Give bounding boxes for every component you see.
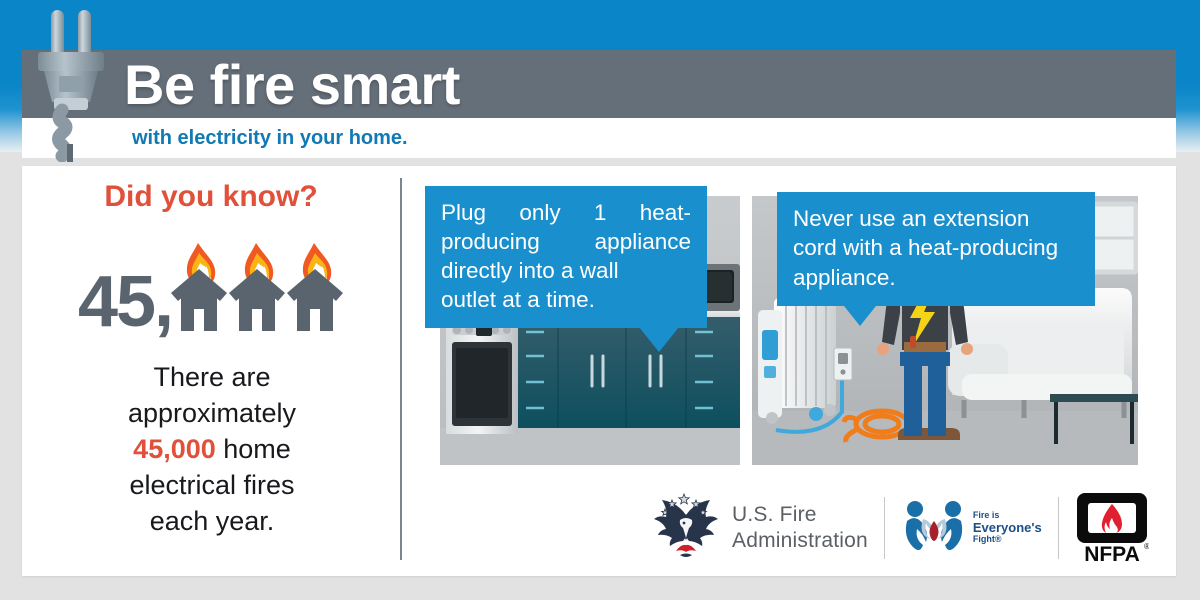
page-title: Be fire smart <box>124 50 460 120</box>
stat-line-4: electrical fires <box>129 470 294 500</box>
usfa-logo: U.S. Fire Administration <box>650 490 868 566</box>
tip-bubble-extension-cord-text: Never use an extension cord with a heat-… <box>793 204 1079 292</box>
burning-houses-group <box>170 239 344 335</box>
logo-separator <box>1058 497 1059 559</box>
page-subtitle: with electricity in your home. <box>132 121 408 155</box>
tip-bubble-extension-cord: Never use an extension cord with a heat-… <box>777 192 1095 306</box>
statistic-number-prefix: 45, <box>78 269 172 335</box>
feft-wordmark: Fire is Everyone's Fight® <box>973 511 1042 544</box>
stat-line-1: There are <box>153 362 270 392</box>
statistic-graphic: 45, <box>22 235 400 335</box>
tip-bubble-extension-cord-tail <box>836 296 884 326</box>
burning-house-icon <box>170 239 228 335</box>
feft-line-3: Fight® <box>973 535 1042 545</box>
stat-line-2: approximately <box>128 398 296 428</box>
nfpa-registered-mark: ® <box>1144 542 1149 551</box>
tip-bubble-kitchen-text: Plug only 1 heat- producing appliance di… <box>441 198 691 314</box>
tip-bubble-kitchen: Plug only 1 heat- producing appliance di… <box>425 186 707 328</box>
electrical-plug-icon <box>26 2 116 162</box>
tip1-line2: producing appliance <box>441 229 691 254</box>
tip1-line4: outlet at a time. <box>441 285 691 314</box>
nfpa-logo: NFPA ® <box>1075 491 1149 565</box>
tip2-line3: appliance. <box>793 265 896 290</box>
tip1-line3: directly into a wall <box>441 258 619 283</box>
stat-line-5: each year. <box>150 506 275 536</box>
two-figures-flame-icon <box>901 497 967 560</box>
fire-is-everyones-fight-logo: Fire is Everyone's Fight® <box>901 490 1042 566</box>
tip2-line1: Never use an extension <box>793 206 1029 231</box>
eagle-icon <box>650 489 722 568</box>
feft-line-2: Everyone's <box>973 521 1042 535</box>
statistic-description: There are approximately 45,000 home elec… <box>52 360 372 540</box>
logo-bar: U.S. Fire Administration Fire is Eve <box>650 486 1150 570</box>
tip-bubble-kitchen-tail <box>635 322 683 352</box>
stat-line-3-rest: home <box>216 434 291 464</box>
usfa-line-1: U.S. Fire <box>732 502 868 528</box>
logo-separator <box>884 497 885 559</box>
burning-house-icon <box>228 239 286 335</box>
column-divider <box>400 178 402 560</box>
burning-house-icon <box>286 239 344 335</box>
did-you-know-heading: Did you know? <box>22 180 400 214</box>
usfa-line-2: Administration <box>732 528 868 554</box>
stat-highlight-number: 45,000 <box>133 434 216 464</box>
tip1-line1: Plug only 1 heat- <box>441 200 691 225</box>
nfpa-wordmark: NFPA <box>1084 543 1140 565</box>
nfpa-flame-icon: NFPA ® <box>1075 491 1149 565</box>
usfa-wordmark: U.S. Fire Administration <box>732 502 868 553</box>
infographic-root: Be fire smart with electricity in your h… <box>0 0 1200 600</box>
tip2-line2: cord with a heat-producing <box>793 235 1058 260</box>
